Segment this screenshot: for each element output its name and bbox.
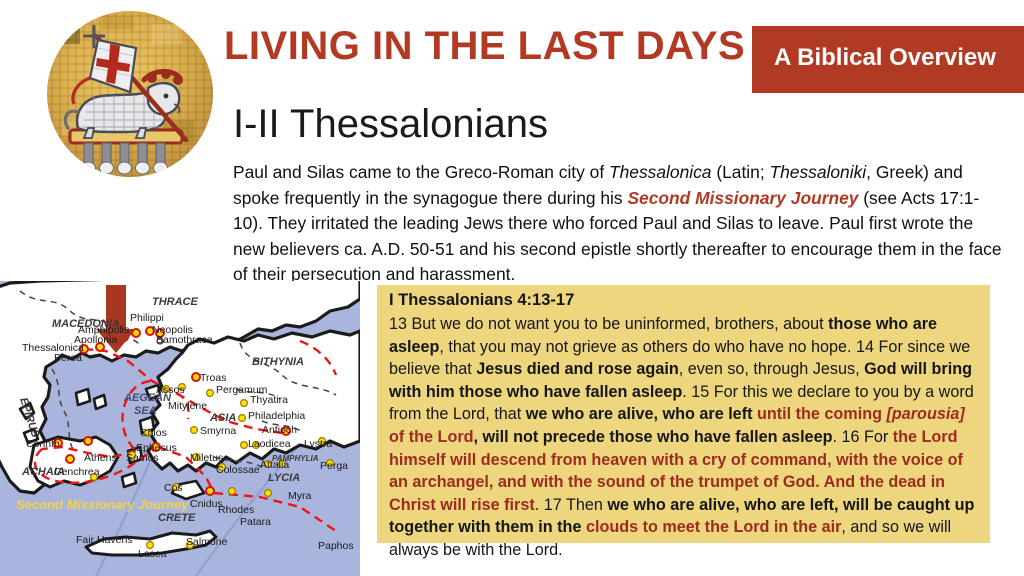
svg-text:Chios: Chios — [140, 427, 167, 439]
agnus-dei-logo — [44, 8, 216, 180]
map-graphic: MACEDONIA THRACE BITHYNIA ASIA ACHAIA LY… — [0, 281, 360, 576]
svg-text:Philadelphia: Philadelphia — [248, 410, 305, 422]
svg-text:Attalia: Attalia — [260, 459, 289, 471]
section-heading: I-II Thessalonians — [233, 104, 548, 144]
svg-text:Thyatira: Thyatira — [250, 394, 288, 406]
svg-text:Fair Havens: Fair Havens — [76, 534, 133, 546]
svg-text:Smyrna: Smyrna — [200, 425, 236, 437]
svg-text:Laodicea: Laodicea — [248, 438, 291, 450]
svg-text:Lasea: Lasea — [138, 548, 167, 560]
svg-text:Mitylene: Mitylene — [168, 400, 207, 412]
svg-text:ASIA: ASIA — [209, 412, 236, 424]
svg-text:Paphos: Paphos — [318, 540, 354, 552]
svg-text:Cos: Cos — [164, 482, 183, 494]
subtitle-text: A Biblical Overview — [774, 44, 996, 72]
scripture-body: 13 But we do not want you to be uninform… — [389, 313, 981, 562]
svg-text:Berea: Berea — [54, 352, 82, 364]
svg-text:LYCIA: LYCIA — [268, 472, 300, 484]
svg-text:Antioch: Antioch — [262, 424, 297, 436]
svg-text:Troas: Troas — [200, 372, 226, 384]
svg-text:Athens: Athens — [84, 452, 117, 464]
svg-text:Patara: Patara — [240, 516, 271, 528]
svg-text:CRETE: CRETE — [158, 512, 196, 524]
svg-text:Samos: Samos — [126, 452, 159, 464]
svg-text:Philippi: Philippi — [130, 312, 164, 324]
svg-text:Corinth: Corinth — [26, 438, 60, 450]
agnus-dei-mosaic-icon — [44, 8, 216, 180]
map-caption: Second Missionary Journey — [16, 497, 189, 512]
svg-text:BITHYNIA: BITHYNIA — [252, 356, 304, 368]
svg-text:Lystra: Lystra — [304, 438, 332, 450]
scripture-callout: I Thessalonians 4:13-17 13 But we do not… — [377, 285, 990, 543]
scripture-reference: I Thessalonians 4:13-17 — [389, 291, 574, 310]
svg-text:Perga: Perga — [320, 460, 348, 472]
svg-text:Colossae: Colossae — [216, 464, 260, 476]
svg-text:Miletus: Miletus — [190, 452, 223, 464]
svg-text:Assos: Assos — [156, 384, 185, 396]
svg-text:SEA: SEA — [134, 405, 157, 417]
svg-text:Samothrace: Samothrace — [156, 334, 213, 346]
svg-text:Rhodes: Rhodes — [218, 504, 254, 516]
svg-text:Salmone: Salmone — [186, 536, 228, 548]
second-missionary-journey-map: MACEDONIA THRACE BITHYNIA ASIA ACHAIA LY… — [0, 281, 360, 576]
svg-text:THRACE: THRACE — [152, 296, 198, 308]
page-title: LIVING IN THE LAST DAYS — [224, 26, 745, 66]
svg-text:Myra: Myra — [288, 490, 311, 502]
subtitle-banner: A Biblical Overview — [752, 26, 1024, 93]
svg-text:Cenchrea: Cenchrea — [54, 466, 100, 478]
body-paragraph: Paul and Silas came to the Greco-Roman c… — [233, 160, 1005, 288]
